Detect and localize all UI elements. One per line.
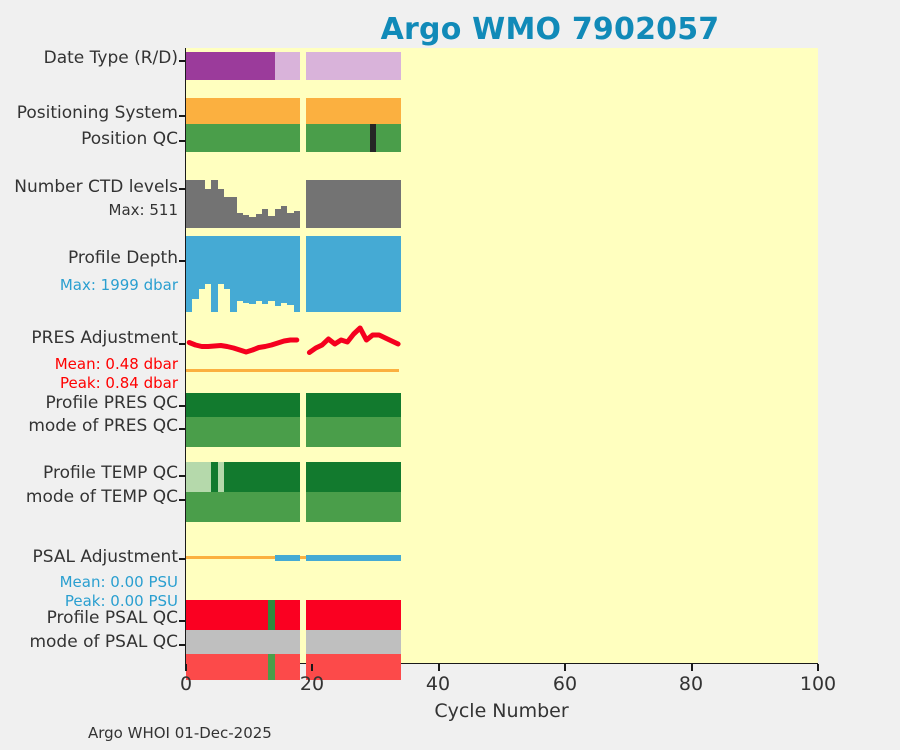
x-tick (438, 664, 440, 671)
row-label-date-type: Date Type (R/D) (44, 50, 178, 68)
row-label-profile-temp-qc: Profile TEMP QC (43, 465, 178, 483)
row-label-mode-temp-qc: mode of TEMP QC (26, 489, 178, 507)
x-tick (691, 664, 693, 671)
row-stat-pres-mean: Mean: 0.48 dbar (55, 357, 178, 373)
x-tick (311, 664, 313, 671)
row-label-position-qc: Position QC (81, 131, 178, 149)
x-tick (185, 664, 187, 671)
bar-ctd-levels (294, 211, 300, 228)
page-title-text: Argo WMO 7902057 (181, 12, 720, 47)
bar-date-type (306, 52, 401, 80)
bar-profile-temp-qc (306, 462, 401, 492)
row-label-profile-psal-qc: Profile PSAL QC (47, 610, 178, 628)
bar-position-qc (186, 124, 300, 152)
row-stat-psal-mean: Mean: 0.00 PSU (60, 575, 178, 591)
bar-profile-depth (294, 236, 300, 312)
x-tick (817, 664, 819, 671)
bar-date-type (275, 52, 300, 80)
bar-profile-temp-qc (224, 462, 300, 492)
bar-mode-temp-qc (186, 492, 300, 522)
bar-positioning-system (306, 98, 401, 124)
bar-profile-pres-qc (186, 393, 300, 417)
page-title: Argo WMO 7902057 (0, 12, 900, 47)
bar-ctd-levels (395, 180, 401, 228)
x-tick-label: 20 (272, 673, 352, 695)
bar-date-type (186, 52, 275, 80)
row-label-num-ctd-levels: Number CTD levels (14, 179, 178, 197)
row-label-pres-adjustment: PRES Adjustment (31, 330, 178, 348)
x-tick (564, 664, 566, 671)
bar-profile-pres-qc (306, 393, 401, 417)
row-label-mode-pres-qc: mode of PRES QC (28, 418, 178, 436)
x-tick-label: 100 (778, 673, 858, 695)
plot-area (185, 48, 818, 664)
bar-profile-temp-qc (186, 462, 211, 492)
x-tick-label: 60 (525, 673, 605, 695)
row-label-positioning-system: Positioning System (17, 105, 178, 123)
bar-positioning-system (186, 98, 300, 124)
row-stat-profile-depth-max: Max: 1999 dbar (60, 278, 178, 294)
row-label-psal-adjustment: PSAL Adjustment (33, 549, 178, 567)
bar-position-qc (306, 124, 369, 152)
x-axis-title: Cycle Number (185, 700, 818, 722)
plot-series-layer (186, 48, 818, 663)
bar-psal-qc-middle (306, 630, 401, 654)
bar-profile-psal-qc (186, 600, 268, 630)
pres-adjustment-baseline (186, 369, 399, 372)
row-stat-pres-peak: Peak: 0.84 dbar (60, 376, 178, 392)
row-label-profile-pres-qc: Profile PRES QC (45, 395, 178, 413)
footer-credit: Argo WHOI 01-Dec-2025 (88, 724, 272, 742)
psal-adjustment-segment (275, 555, 300, 561)
figure-canvas: Argo WMO 7902057 Date Type (R/D) Positio… (0, 0, 900, 750)
row-label-mode-psal-qc: mode of PSAL QC (29, 634, 178, 652)
x-tick-label: 40 (398, 673, 478, 695)
x-tick-label: 80 (651, 673, 731, 695)
row-stat-num-ctd-max: Max: 511 (109, 203, 178, 219)
bar-psal-qc-middle (186, 630, 300, 654)
bar-mode-pres-qc (306, 417, 401, 447)
bar-profile-depth (395, 236, 401, 312)
x-tick-label: 0 (146, 673, 226, 695)
psal-adjustment-segment (306, 555, 401, 561)
bar-profile-psal-qc (306, 600, 401, 630)
bar-position-qc (376, 124, 401, 152)
bar-profile-psal-qc (275, 600, 300, 630)
bar-mode-pres-qc (186, 417, 300, 447)
row-label-profile-depth: Profile Depth (68, 250, 178, 268)
bar-mode-temp-qc (306, 492, 401, 522)
